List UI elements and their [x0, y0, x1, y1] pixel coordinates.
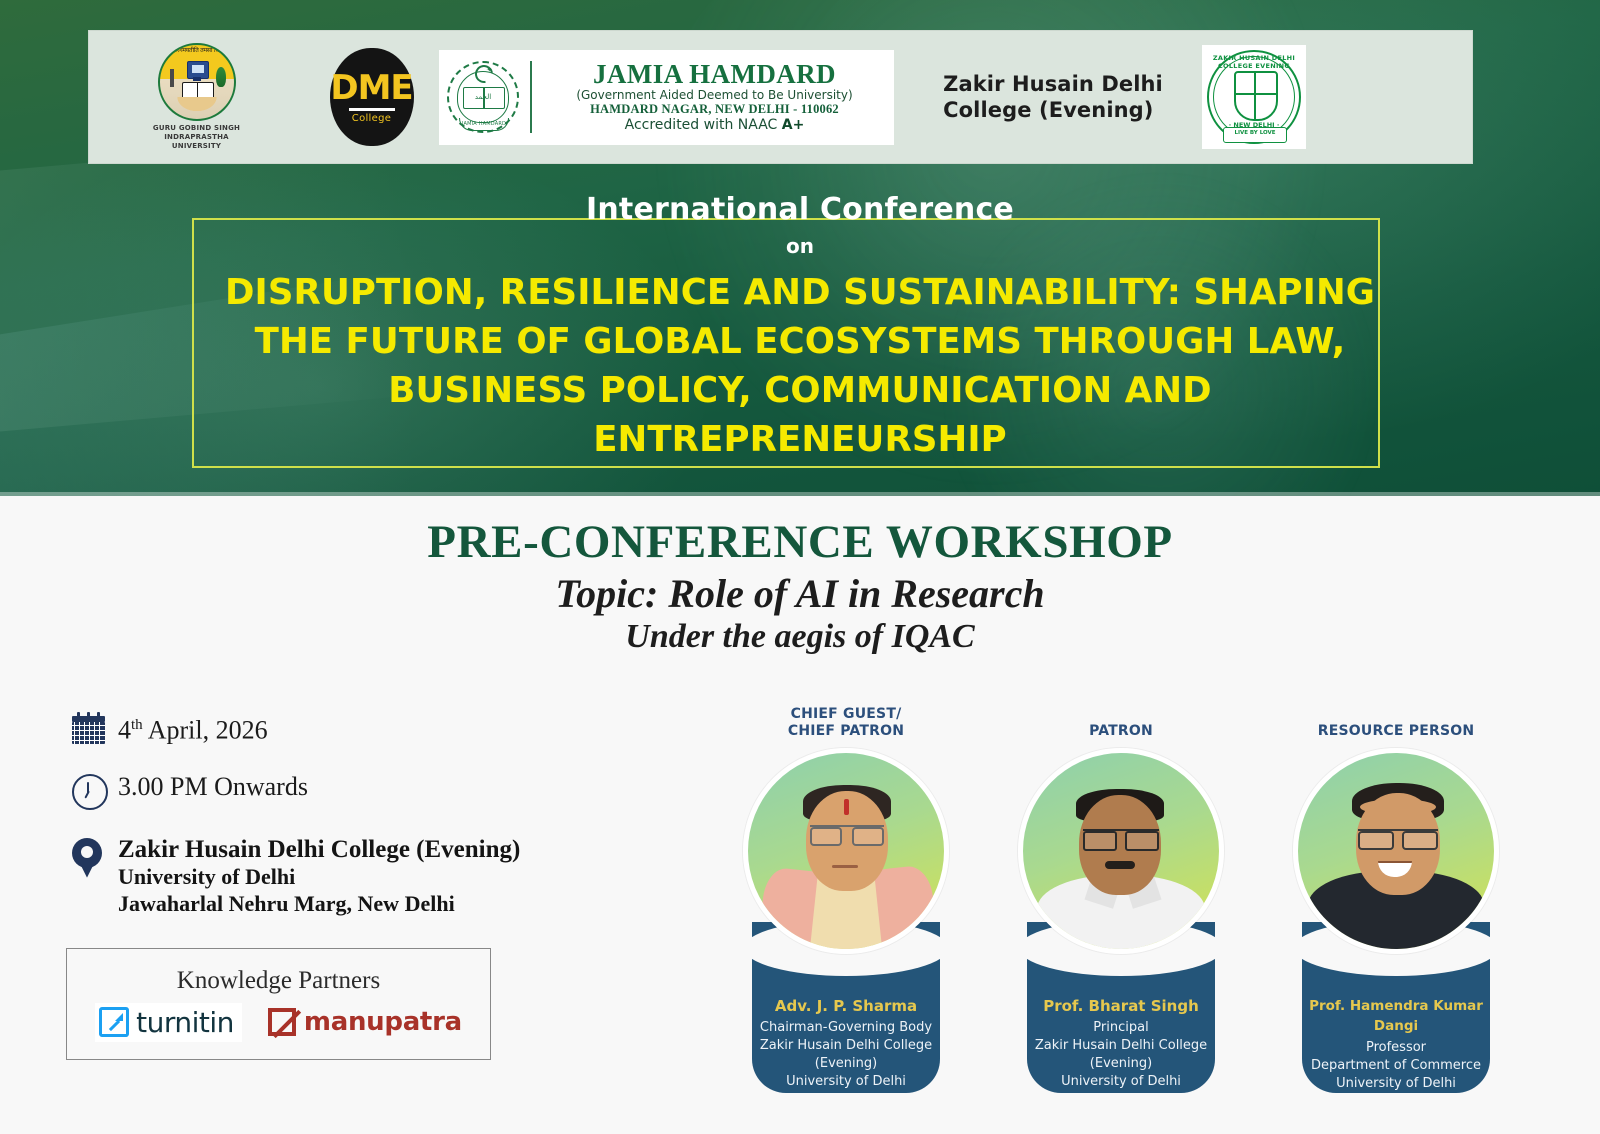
avatar: [743, 748, 949, 954]
dignitary-designation: Professor: [1296, 1039, 1496, 1057]
dignitary-institution: Zakir Husain Delhi College (Evening): [1021, 1037, 1221, 1073]
dignitary-role: CHIEF GUEST/ CHIEF PATRON: [730, 700, 962, 740]
jamia-hamdard-accreditation: Accredited with NAAC: [625, 117, 782, 133]
dignitary-info: Prof. Bharat Singh Principal Zakir Husai…: [1021, 996, 1221, 1091]
event-details: 4th April, 2026 3.00 PM Onwards Zakir Hu…: [72, 710, 672, 943]
dignitary-name: Adv. J. P. Sharma: [746, 996, 946, 1016]
zakir-husain-college-name: Zakir Husain Delhi College (Evening): [894, 31, 1194, 163]
event-date-rest: April, 2026: [143, 716, 268, 745]
dignitary-role: PATRON: [1005, 700, 1237, 740]
dignitary-info: Prof. Hamendra Kumar Dangi Professor Dep…: [1296, 996, 1496, 1093]
venue-line-1: Zakir Husain Delhi College (Evening): [118, 836, 520, 863]
dignitary-university: University of Delhi: [1296, 1075, 1496, 1093]
jamia-hamdard-subtitle: (Government Aided Deemed to Be Universit…: [541, 88, 888, 102]
event-date: 4th April, 2026: [118, 710, 268, 746]
dignitary-role-line1: CHIEF GUEST/: [730, 706, 962, 723]
event-time: 3.00 PM Onwards: [118, 772, 308, 802]
location-pin-icon: [72, 836, 118, 878]
zakir-name-line2: College (Evening): [943, 97, 1163, 123]
zakir-husain-crest-icon: ZAKIR HUSAIN DELHI COLLEGE EVENING · NEW…: [1202, 45, 1306, 149]
conference-kicker: International Conference: [0, 192, 1600, 227]
jamia-seal-text: JAMIA HAMDARD: [460, 121, 508, 127]
zakir-crest-motto: LIVE BY LOVE: [1224, 128, 1286, 139]
workshop-aegis: Under the aegis of IQAC: [0, 618, 1600, 656]
turnitin-logo: turnitin: [95, 1003, 242, 1042]
dme-college-logo: DME College: [304, 31, 439, 163]
ggsipu-name-line1: GURU GOBIND SINGH: [143, 124, 251, 133]
workshop-topic: Topic: Role of AI in Research: [0, 570, 1600, 617]
dignitary-name: Prof. Hamendra Kumar Dangi: [1296, 996, 1496, 1036]
dignitary-card: CHIEF GUEST/ CHIEF PATRON: [730, 700, 962, 1093]
dignitary-role: RESOURCE PERSON: [1280, 700, 1512, 740]
jamia-hamdard-logo: ✦ الحمد JAMIA HAMDARD JAMIA HAMDARD (Gov…: [439, 31, 894, 163]
event-date-row: 4th April, 2026: [72, 710, 672, 746]
knowledge-partners-title: Knowledge Partners: [177, 967, 380, 995]
turnitin-mark-icon: [99, 1007, 129, 1037]
dignitary-card: PATRON: [1005, 700, 1237, 1093]
manupatra-label: manupatra: [304, 1007, 462, 1037]
jamia-hamdard-address: HAMDARD NAGAR, NEW DELHI - 110062: [541, 102, 888, 116]
venue-line-3: Jawaharlal Nehru Marg, New Delhi: [118, 890, 520, 917]
calendar-icon: [72, 710, 118, 744]
dignitary-role-line2: CHIEF PATRON: [730, 723, 962, 740]
ggsipu-name-line2: INDRAPRASTHA UNIVERSITY: [143, 133, 251, 151]
ggsipu-emblem-icon: ज्योतिरिर्गमयतीति तमसो विज्ञानम्: [158, 43, 236, 121]
clock-icon: [72, 772, 118, 810]
dme-sub-text: College: [352, 113, 391, 124]
dignitary-info: Adv. J. P. Sharma Chairman-Governing Bod…: [746, 996, 946, 1091]
knowledge-partners-box: Knowledge Partners turnitin manupatra: [66, 948, 491, 1060]
organizer-logo-band: ज्योतिरिर्गमयतीति तमसो विज्ञानम् GURU GO…: [88, 30, 1473, 164]
jamia-hamdard-seal-icon: ✦ الحمد JAMIA HAMDARD: [445, 59, 521, 135]
event-venue-row: Zakir Husain Delhi College (Evening) Uni…: [72, 836, 672, 917]
dignitary-university: University of Delhi: [1021, 1073, 1221, 1091]
workshop-heading: PRE-CONFERENCE WORKSHOP: [0, 515, 1600, 569]
dignitary-designation: Principal: [1021, 1019, 1221, 1037]
event-date-number: 4: [118, 716, 131, 745]
conference-poster: ज्योतिरिर्गमयतीति तमसो विज्ञानम् GURU GO…: [0, 0, 1600, 1134]
ggsipu-sanskrit-motto: ज्योतिरिर्गमयतीति तमसो विज्ञानम्: [160, 46, 234, 54]
dignitary-institution: Zakir Husain Delhi College (Evening): [746, 1037, 946, 1073]
zakir-husain-crest-logo: ZAKIR HUSAIN DELHI COLLEGE EVENING · NEW…: [1194, 31, 1314, 163]
zakir-crest-arc-top: ZAKIR HUSAIN DELHI COLLEGE EVENING: [1202, 54, 1306, 70]
manupatra-mark-icon: [268, 1008, 296, 1036]
dme-main-text: DME: [330, 71, 412, 105]
turnitin-label: turnitin: [136, 1006, 234, 1039]
conference-title: DISRUPTION, RESILIENCE AND SUSTAINABILIT…: [210, 268, 1390, 464]
conference-on-label: on: [0, 234, 1600, 258]
hero-bottom-divider: [0, 492, 1600, 496]
dignitary-role-line1: RESOURCE PERSON: [1280, 723, 1512, 740]
manupatra-logo: manupatra: [268, 1007, 462, 1037]
avatar: [1293, 748, 1499, 954]
dignitaries-section: CHIEF GUEST/ CHIEF PATRON: [720, 700, 1560, 1120]
dignitary-designation: Chairman-Governing Body: [746, 1019, 946, 1037]
event-date-ordinal: th: [131, 717, 143, 733]
jamia-hamdard-title: JAMIA HAMDARD: [541, 60, 888, 88]
jamia-hamdard-naac-grade: A+: [782, 117, 805, 133]
dignitary-role-line1: PATRON: [1005, 723, 1237, 740]
event-time-row: 3.00 PM Onwards: [72, 772, 672, 810]
dignitary-card: RESOURCE PERSON Prof. Hamendra: [1280, 700, 1512, 1093]
zakir-name-line1: Zakir Husain Delhi: [943, 71, 1163, 97]
ggsipu-logo: ज्योतिरिर्गमयतीति तमसो विज्ञानम् GURU GO…: [89, 31, 304, 163]
dignitary-name: Prof. Bharat Singh: [1021, 996, 1221, 1016]
avatar: [1018, 748, 1224, 954]
dignitary-institution: Department of Commerce: [1296, 1057, 1496, 1075]
event-venue: Zakir Husain Delhi College (Evening) Uni…: [118, 836, 520, 917]
dme-badge-icon: DME College: [330, 48, 414, 146]
venue-line-2: University of Delhi: [118, 863, 520, 890]
dignitary-university: University of Delhi: [746, 1073, 946, 1091]
